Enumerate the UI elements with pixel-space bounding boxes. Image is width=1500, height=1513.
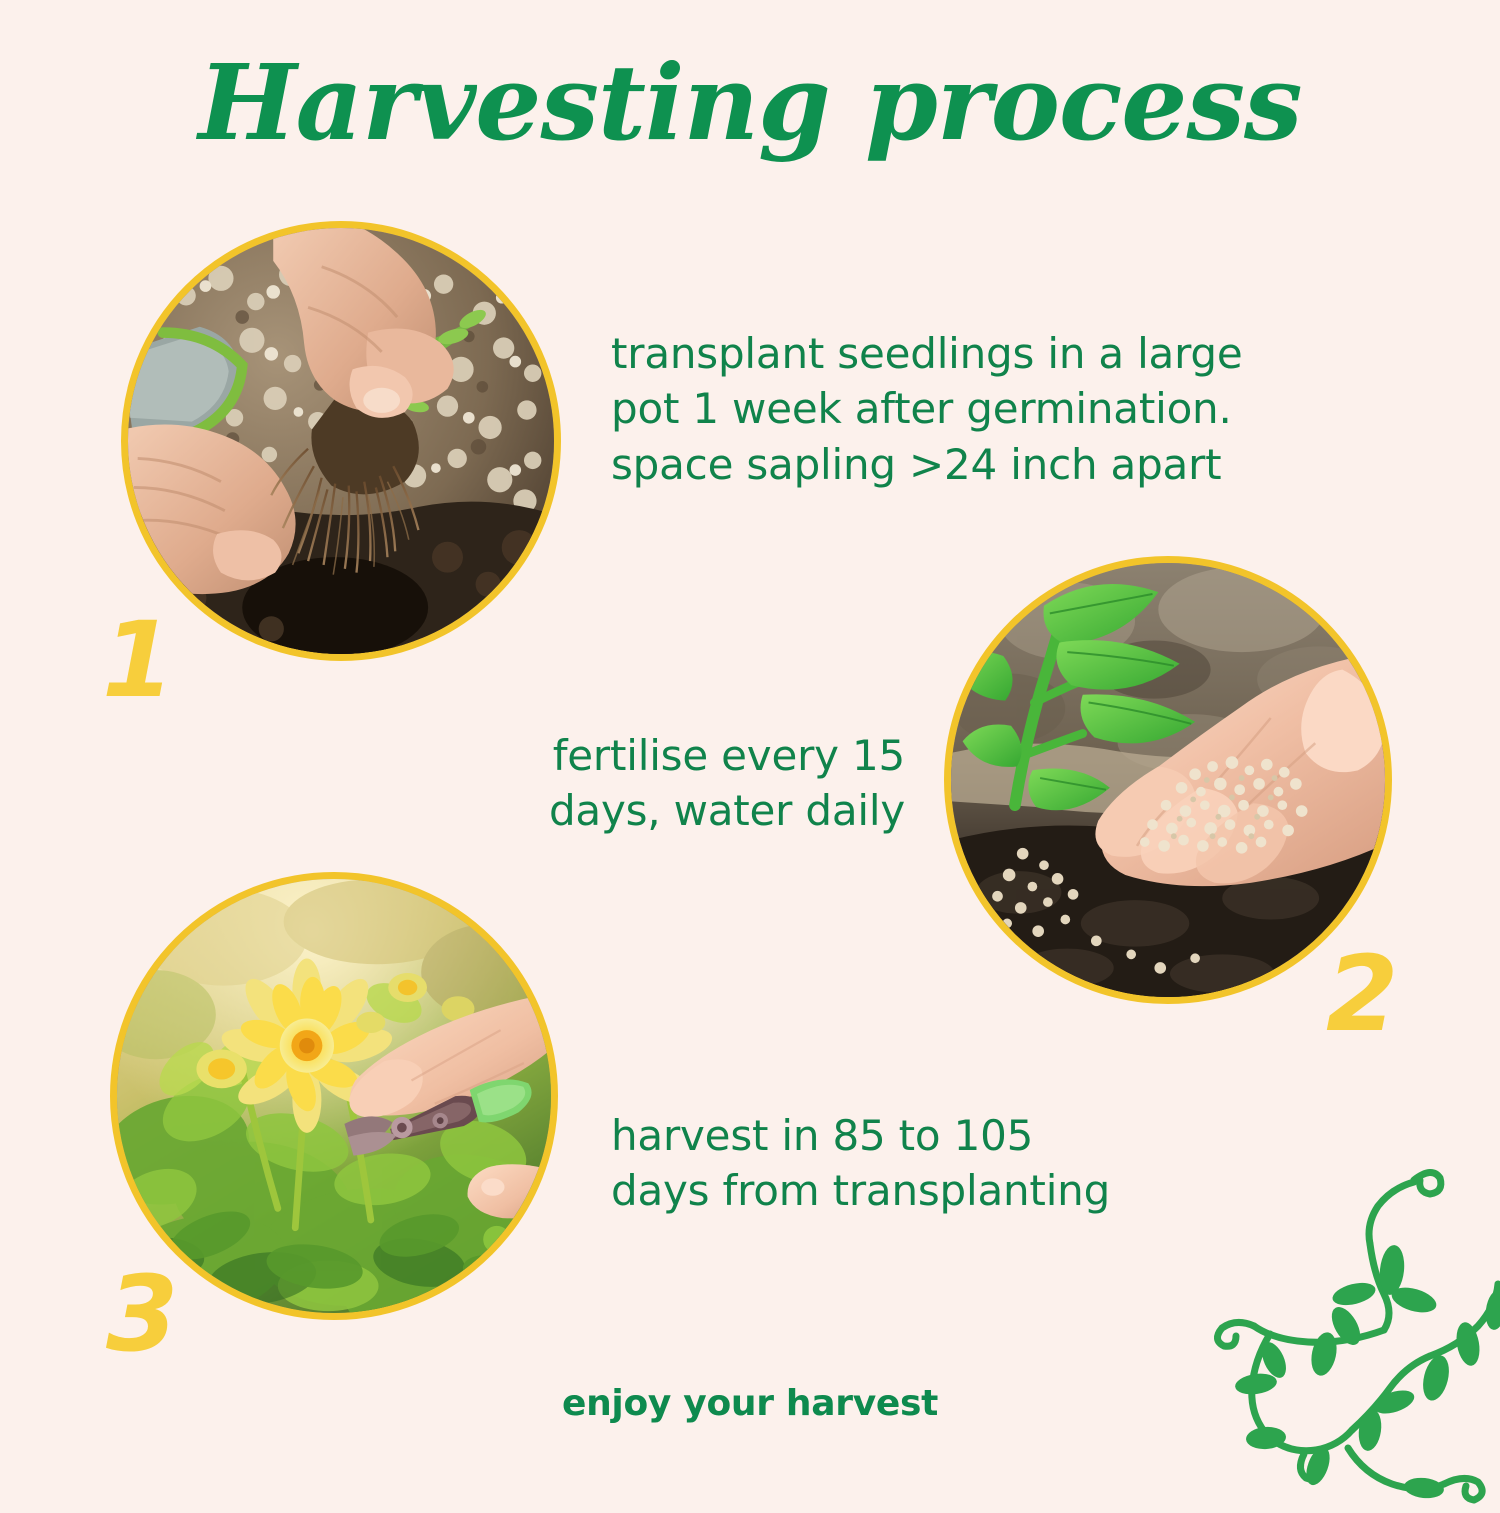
step-1-photo [121, 221, 561, 661]
step-3-text: harvest in 85 to 105 days from transplan… [611, 1108, 1251, 1219]
page-title: Harvesting process [0, 46, 1500, 160]
step-2-text: fertilise every 15 days, water daily [505, 728, 905, 839]
step-1-text: transplant seedlings in a large pot 1 we… [611, 326, 1271, 492]
step-2-photo [944, 556, 1392, 1004]
step-1-number: 1 [102, 608, 174, 712]
infographic-canvas: Harvesting process [0, 0, 1500, 1500]
step-3-number: 3 [106, 1262, 178, 1366]
step-2-number: 2 [1326, 942, 1398, 1046]
footer-tagline: enjoy your harvest [0, 1383, 1500, 1424]
